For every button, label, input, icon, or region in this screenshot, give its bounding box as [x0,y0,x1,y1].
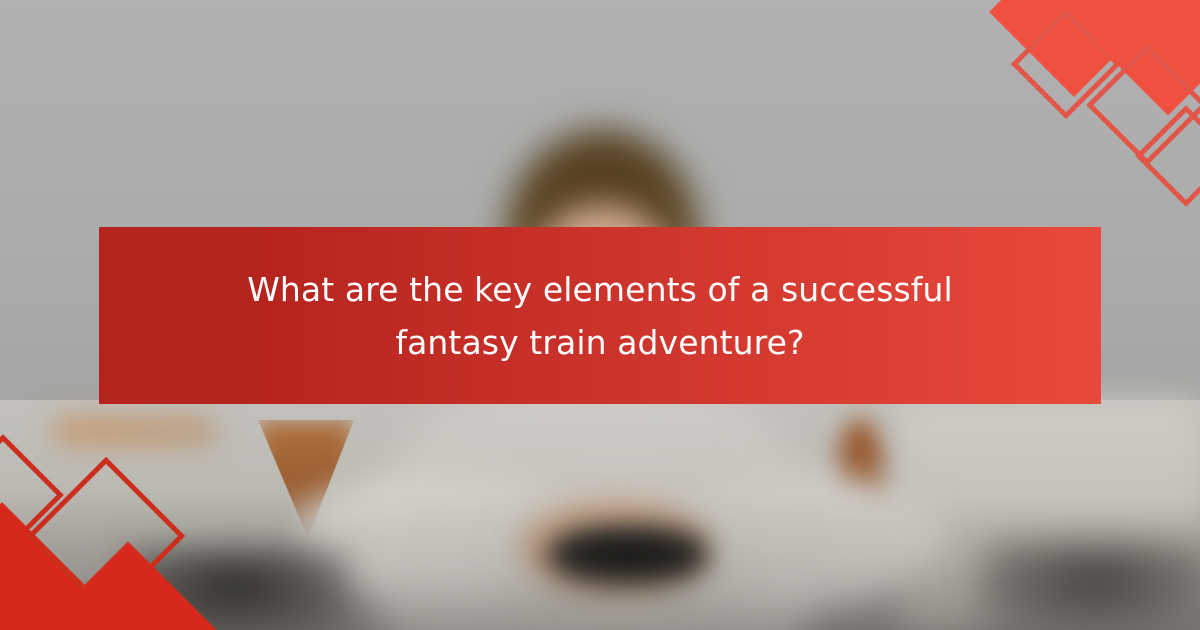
top-right-diamond-cluster [990,0,1200,175]
og-image-canvas: What are the key elements of a successfu… [0,0,1200,630]
question-banner: What are the key elements of a successfu… [99,227,1101,404]
bottom-left-diamond-cluster [0,440,215,630]
page-title: What are the key elements of a successfu… [230,263,970,369]
